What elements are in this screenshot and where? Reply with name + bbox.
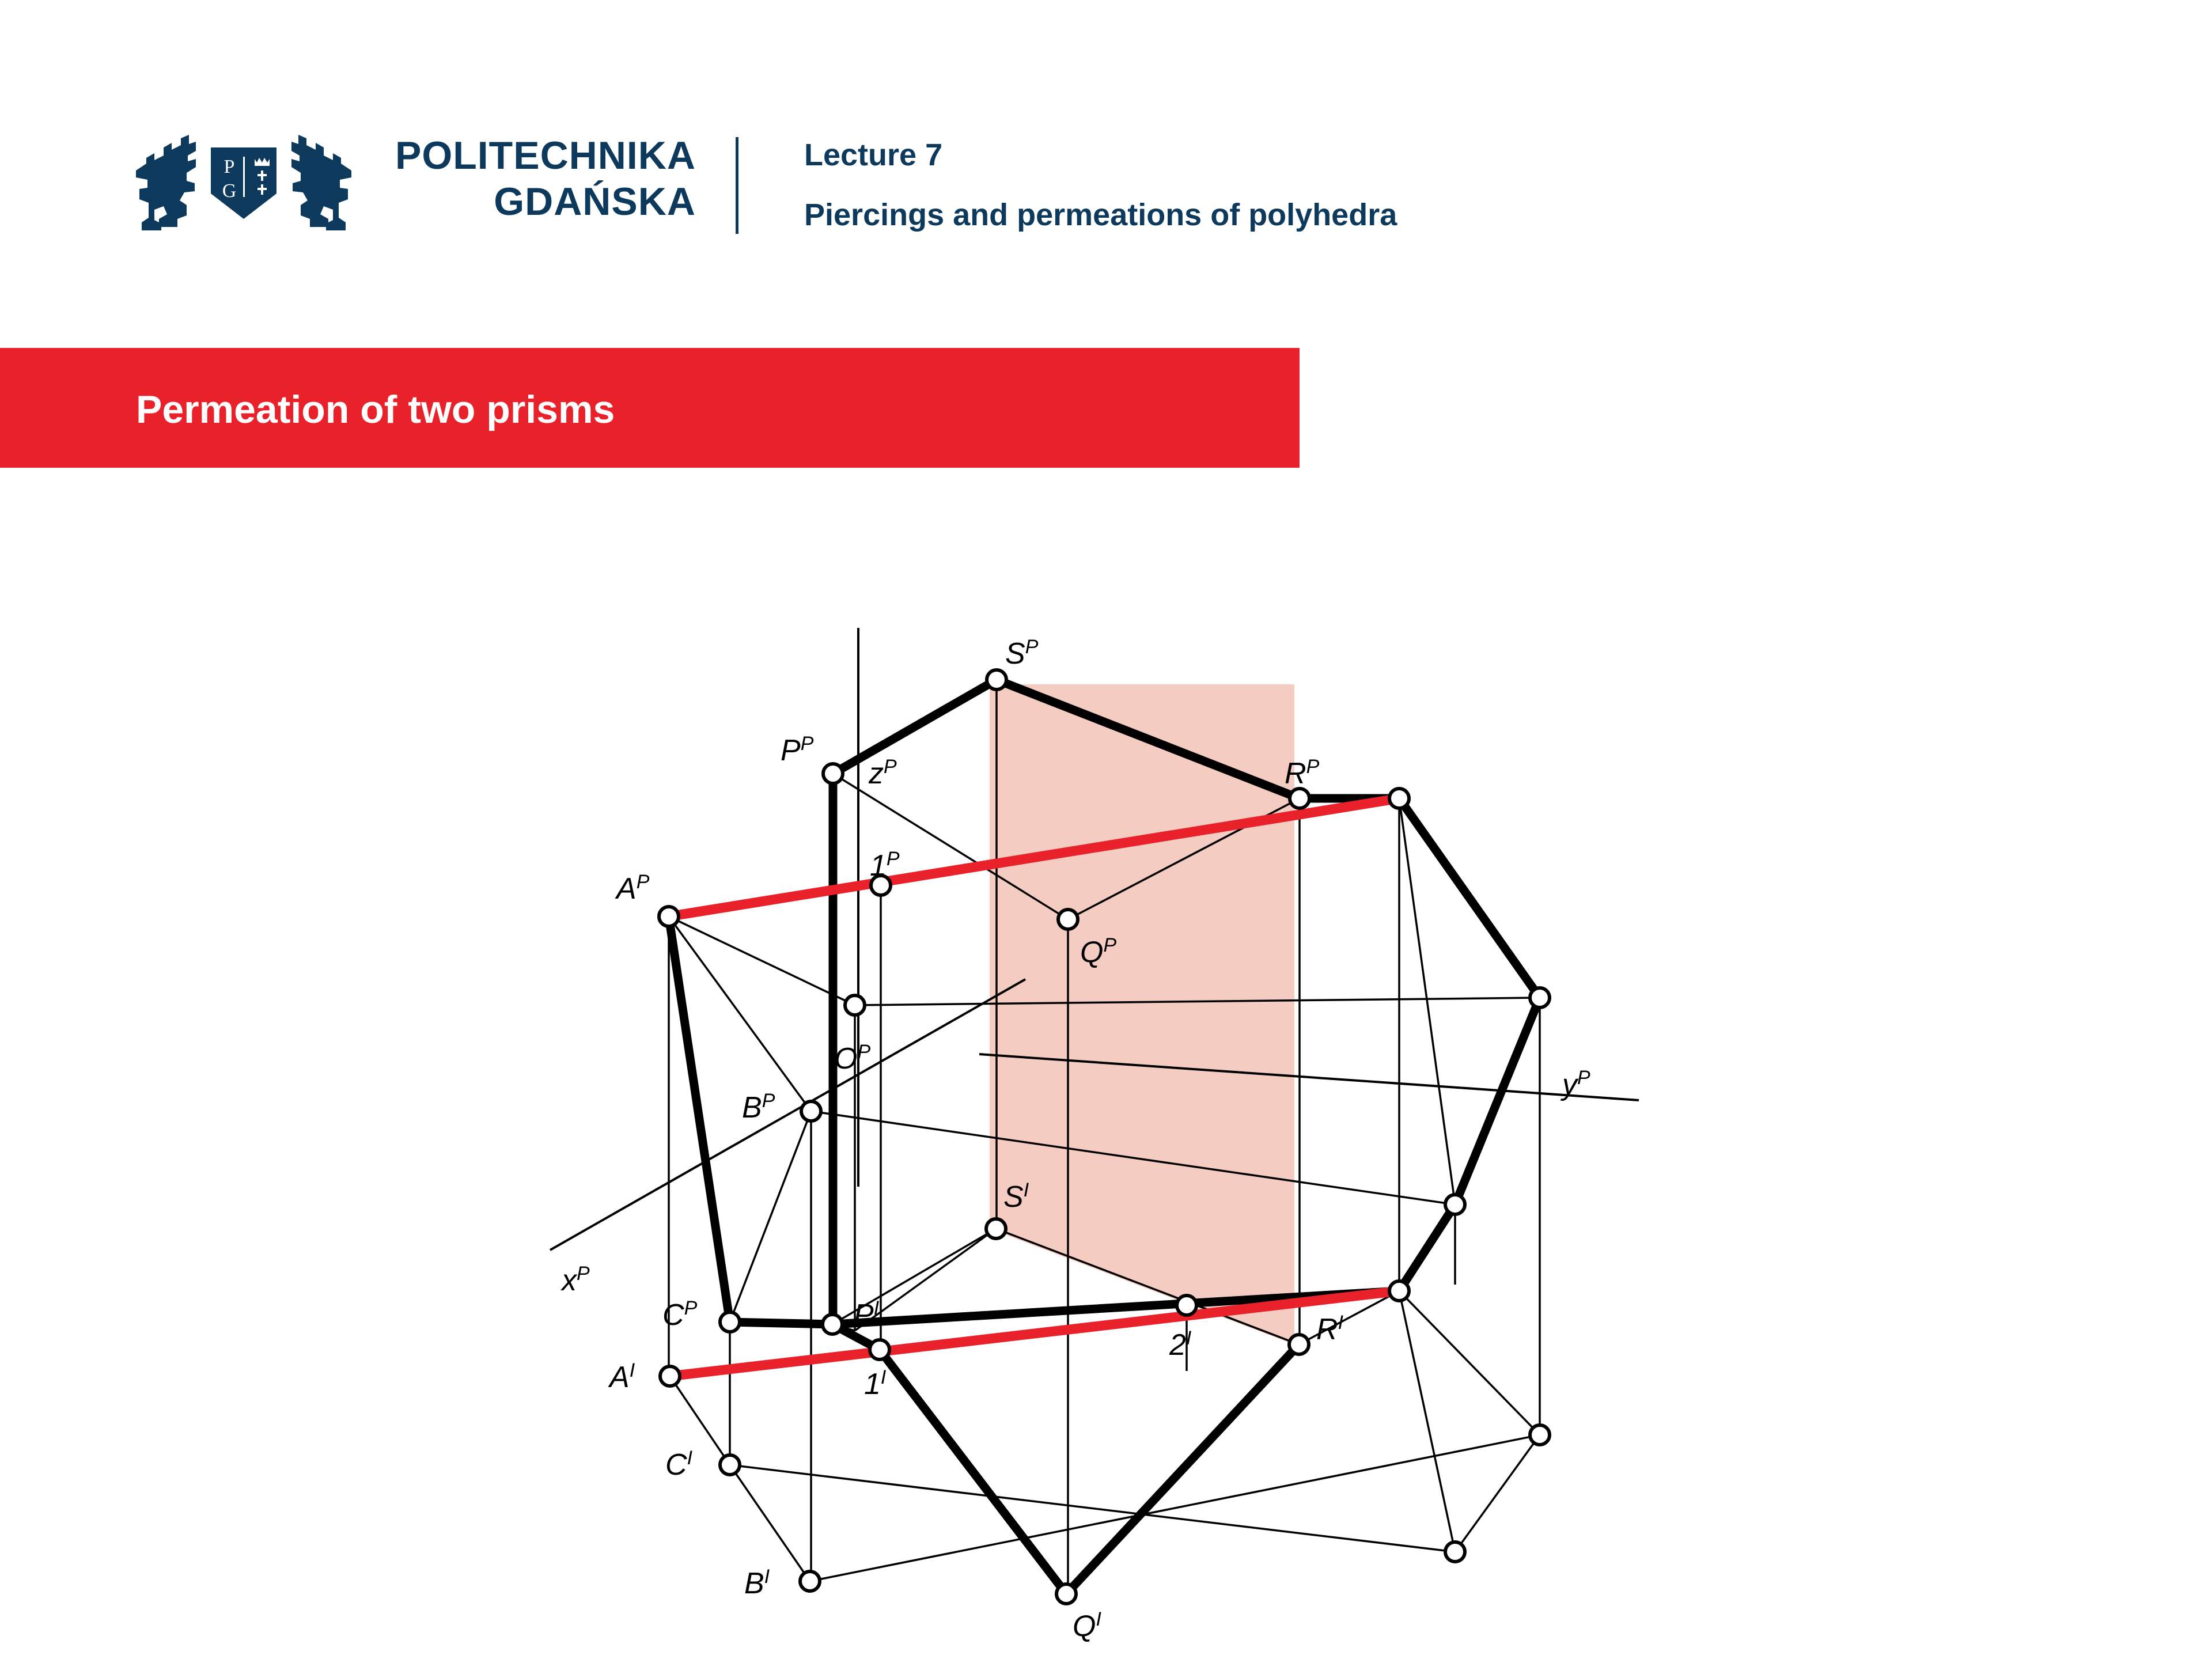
label-CI: CI (665, 1447, 693, 1482)
lower-prism-outline (832, 1324, 1299, 1594)
shield-letter-g: G (222, 180, 237, 202)
lecture-subtitle: Piercings and permeations of polyhedra (804, 197, 1397, 233)
label-1I: 1I (864, 1366, 887, 1401)
label-RP: RP (1285, 756, 1320, 790)
label-RI: RI (1316, 1312, 1344, 1346)
shield-letter-p: P (224, 156, 235, 177)
label-AI: AI (608, 1359, 635, 1394)
label-z-axis: zP (868, 756, 897, 790)
brand-name: POLITECHNIKA GDAŃSKA (373, 132, 696, 236)
lion-left-icon (136, 135, 196, 230)
label-BP: BP (742, 1090, 775, 1124)
label-PI: PI (854, 1297, 880, 1332)
lecture-number: Lecture 7 (804, 137, 942, 173)
label-BI: BI (744, 1566, 770, 1600)
label-SP: SP (1005, 636, 1039, 671)
label-2I: 2I (1169, 1327, 1192, 1362)
brand-line-1: POLITECHNIKA (373, 132, 696, 179)
section-title: Permeation of two prisms (136, 387, 615, 432)
label-x-axis: xP (560, 1263, 590, 1297)
x-axis-line (550, 979, 1025, 1250)
label-PP: PP (781, 733, 814, 767)
label-AP: AP (615, 871, 650, 906)
gdansk-tech-logo: P G (131, 128, 356, 237)
cutting-plane-fill (990, 684, 1294, 1344)
header-divider (736, 137, 738, 234)
brand-line-2: GDAŃSKA (373, 179, 696, 225)
label-CP: CP (662, 1297, 698, 1332)
axonometric-drawing: zP xP yP SP PP RP AP 1P QP OP BP CP SI P… (0, 518, 2212, 1659)
lion-right-icon (291, 135, 351, 230)
shield-icon: P G (207, 143, 281, 225)
slide-header: P G POLITECHNIKA GDAŃSKA Lecture 7 Pierc… (0, 0, 2212, 323)
label-QI: QI (1073, 1608, 1101, 1643)
